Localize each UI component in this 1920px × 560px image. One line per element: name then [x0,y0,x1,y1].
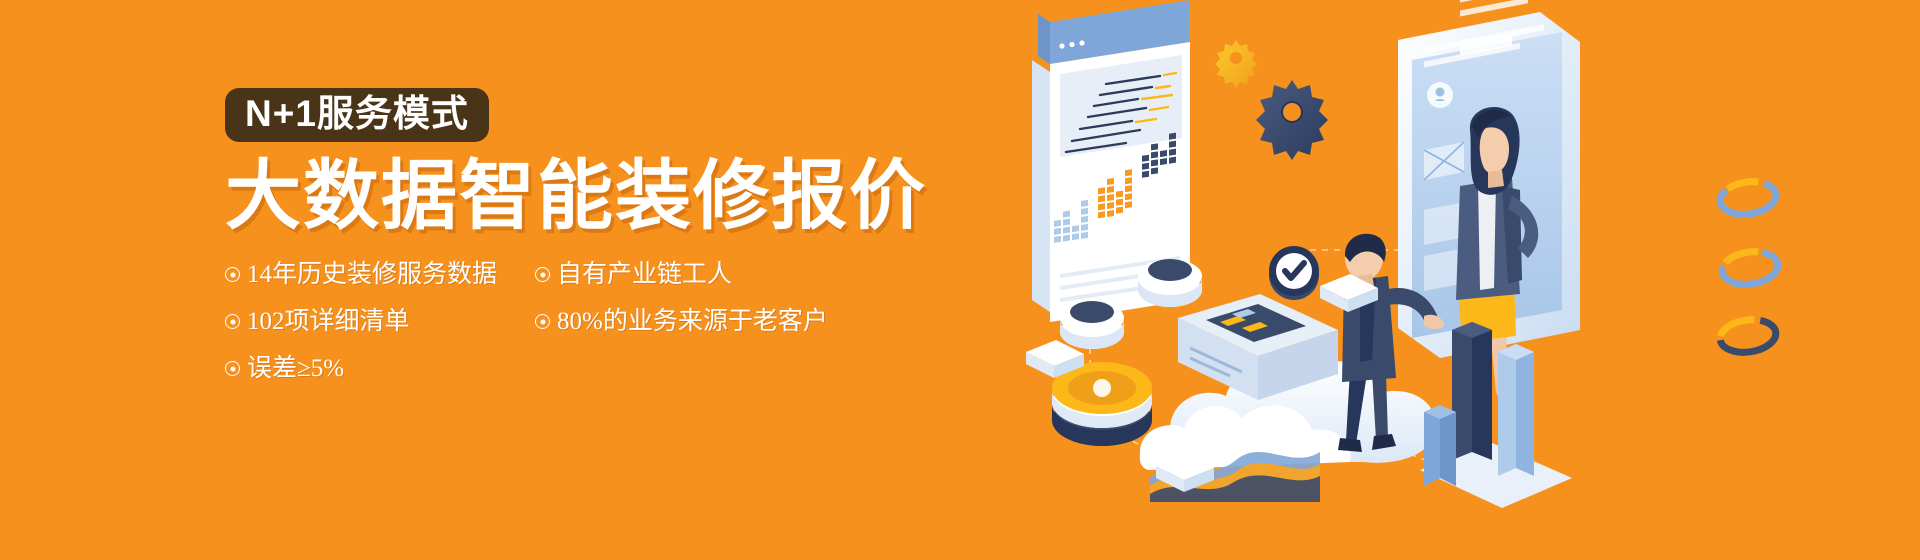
list-item: 自有产业链工人 [535,262,845,287]
ring-chart-1 [1718,178,1778,217]
gear-large-icon [1256,80,1328,160]
list-item-label: 80%的业务来源于老客户 [557,309,828,334]
bullet-target-icon [225,361,240,376]
list-item-label: 自有产业链工人 [557,262,732,287]
list-item: 误差≥5% [225,356,535,381]
service-mode-badge: N+1服务模式 [225,88,489,142]
ring-chart-3 [1718,316,1778,355]
coin-stack-1 [1138,259,1202,307]
list-item-label: 误差≥5% [247,356,344,381]
isometric-big-data-scene [1020,0,1920,560]
gear-platform [1052,362,1152,446]
list-item: 14年历史装修服务数据 [225,262,535,287]
text-block: N+1服务模式 大数据智能装修报价 14年历史装修服务数据 自有产业链工人 10… [225,88,945,403]
bullet-target-icon [535,314,550,329]
ring-chart-2 [1720,248,1780,287]
bullet-target-icon [535,267,550,282]
feature-list: 14年历史装修服务数据 自有产业链工人 102项详细清单 80%的业务来源于老客… [225,262,845,403]
list-item: 80%的业务来源于老客户 [535,309,845,334]
page-title: 大数据智能装修报价 [225,156,945,238]
list-item-label: 102项详细清单 [247,309,410,334]
list-item-label: 14年历史装修服务数据 [247,262,497,287]
gear-small-icon [1215,40,1257,88]
bullet-target-icon [225,314,240,329]
promo-banner: N+1服务模式 大数据智能装修报价 14年历史装修服务数据 自有产业链工人 10… [0,0,1920,560]
bullet-target-icon [225,267,240,282]
list-item: 102项详细清单 [225,309,535,334]
coin-stack-2 [1060,301,1124,349]
check-badge-icon [1269,246,1319,300]
